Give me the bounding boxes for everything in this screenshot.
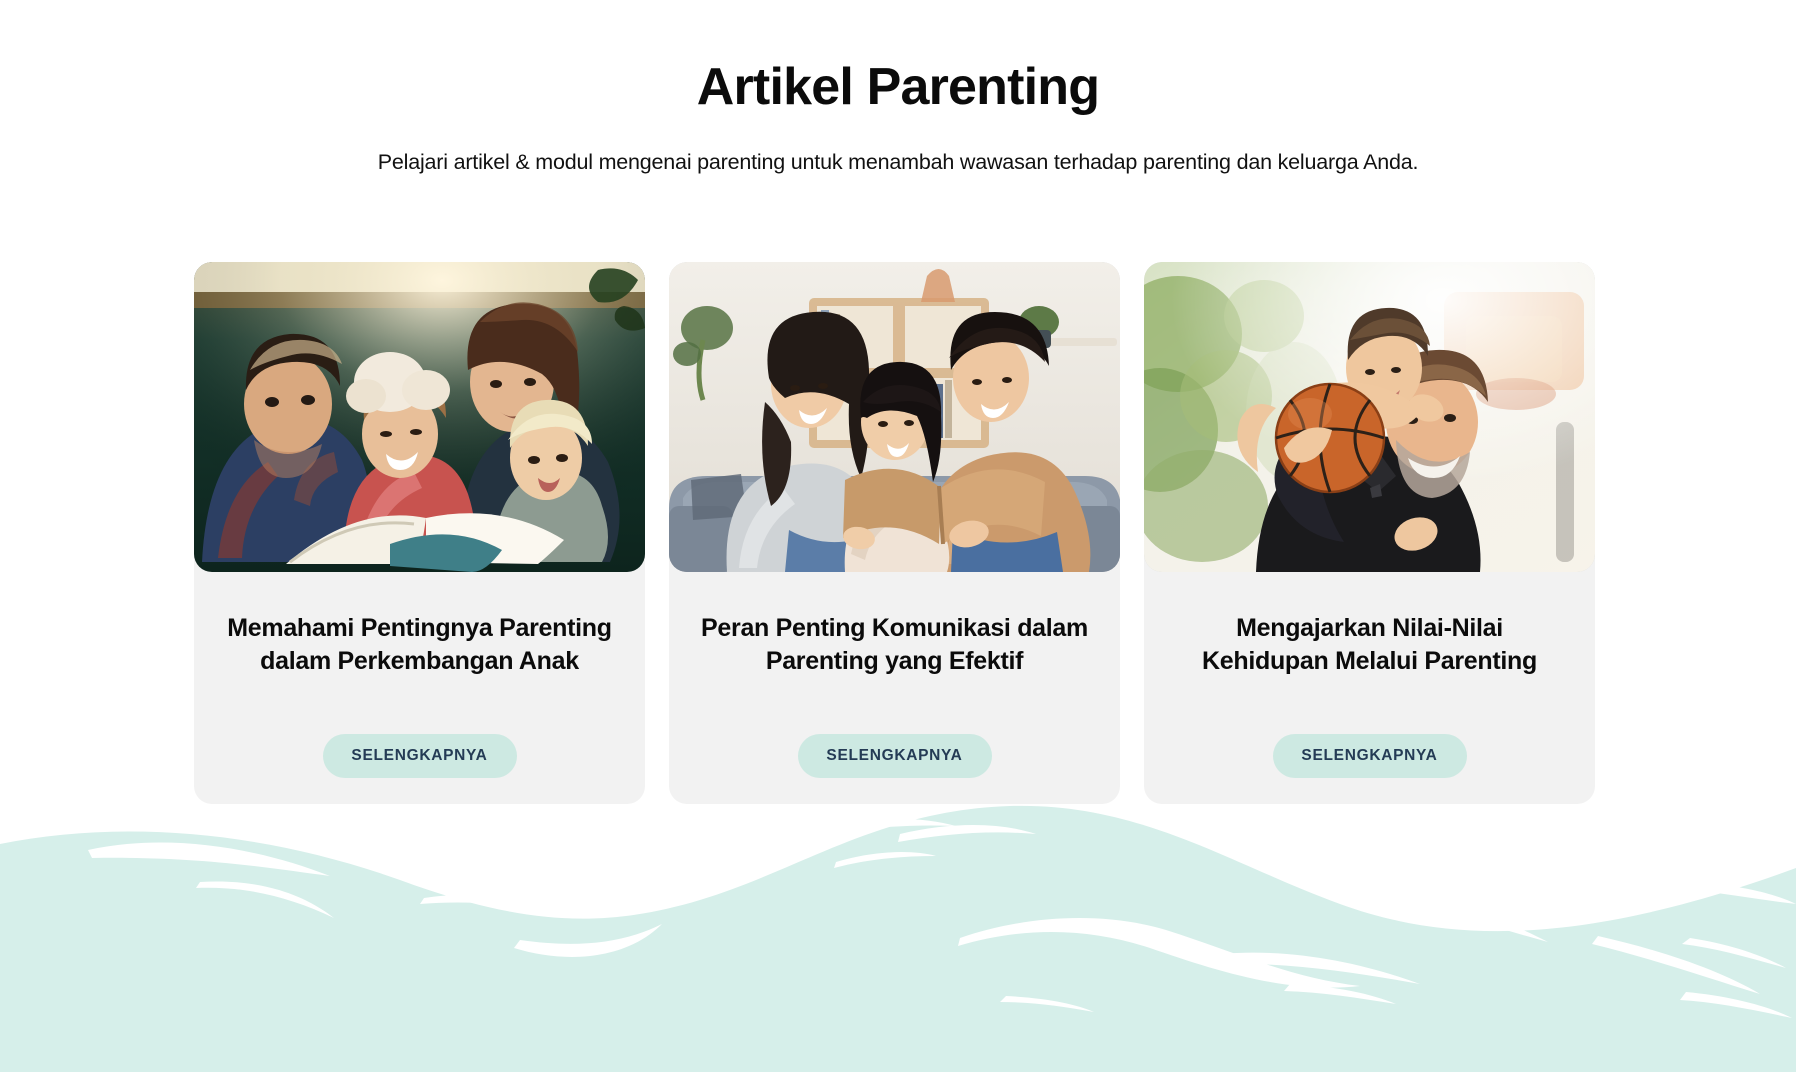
article-card-action: SELENGKAPNYA	[1144, 682, 1595, 778]
article-title: Memahami Pentingnya Parenting dalam Perk…	[220, 612, 619, 682]
article-card-action: SELENGKAPNYA	[194, 682, 645, 778]
bottom-wave-decoration	[0, 772, 1796, 1072]
article-card[interactable]: Peran Penting Komunikasi dalam Parenting…	[669, 262, 1120, 804]
article-listing-page: Artikel Parenting Pelajari artikel & mod…	[0, 0, 1796, 1072]
read-more-button[interactable]: SELENGKAPNYA	[798, 734, 992, 778]
article-thumbnail-image	[194, 262, 645, 572]
article-card-grid: Memahami Pentingnya Parenting dalam Perk…	[194, 262, 1596, 804]
page-subtitle: Pelajari artikel & modul mengenai parent…	[0, 149, 1796, 177]
page-title: Artikel Parenting	[0, 58, 1796, 116]
read-more-button[interactable]: SELENGKAPNYA	[1273, 734, 1467, 778]
read-more-button[interactable]: SELENGKAPNYA	[323, 734, 517, 778]
article-card[interactable]: Memahami Pentingnya Parenting dalam Perk…	[194, 262, 645, 804]
page-header: Artikel Parenting Pelajari artikel & mod…	[0, 0, 1796, 177]
article-card-action: SELENGKAPNYA	[669, 682, 1120, 778]
article-title: Mengajarkan Nilai-Nilai Kehidupan Melalu…	[1170, 612, 1569, 682]
article-title: Peran Penting Komunikasi dalam Parenting…	[695, 612, 1094, 682]
article-thumbnail-image	[1144, 262, 1595, 572]
article-thumbnail-image	[669, 262, 1120, 572]
article-card[interactable]: Mengajarkan Nilai-Nilai Kehidupan Melalu…	[1144, 262, 1595, 804]
